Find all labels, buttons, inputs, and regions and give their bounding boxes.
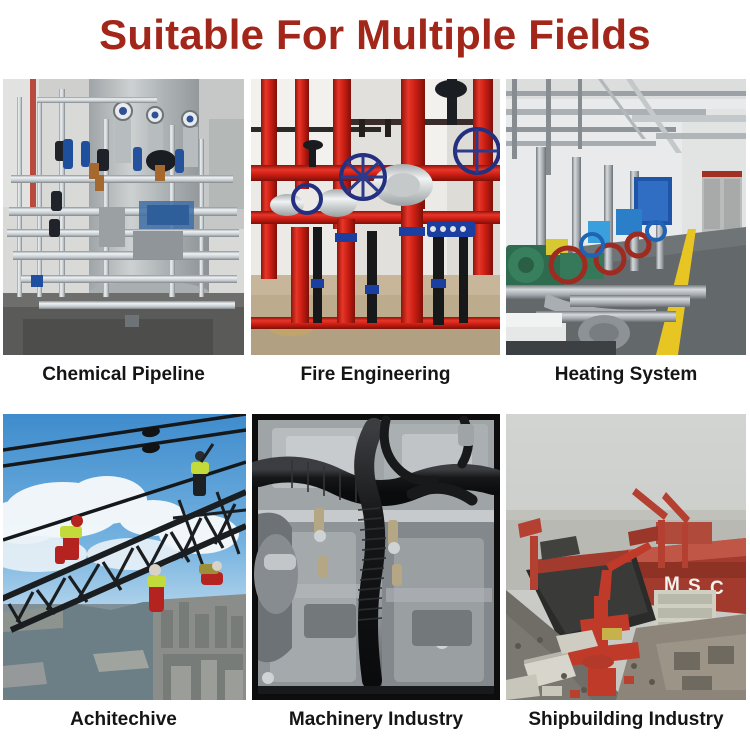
gallery-image-chemical-pipeline[interactable] (3, 79, 244, 355)
fire-engineering-illustration (251, 79, 500, 355)
chemical-pipeline-illustration (3, 79, 244, 355)
applications-gallery-grid: Chemical Pipeline (0, 0, 750, 750)
gallery-caption-machinery-industry: Machinery Industry (252, 710, 500, 729)
gallery-caption-shipbuilding-industry: Shipbuilding Industry (506, 710, 746, 729)
gallery-image-achitechive[interactable] (3, 414, 246, 700)
promo-banner: Suitable For Multiple Fields (0, 0, 750, 750)
gallery-caption-chemical-pipeline: Chemical Pipeline (3, 365, 244, 384)
achitechive-illustration (3, 414, 246, 700)
gallery-image-machinery-industry[interactable] (252, 414, 500, 700)
heating-system-illustration (506, 79, 746, 355)
gallery-image-heating-system[interactable] (506, 79, 746, 355)
gallery-image-fire-engineering[interactable] (251, 79, 500, 355)
machinery-industry-illustration (252, 414, 500, 700)
gallery-caption-heating-system: Heating System (506, 365, 746, 384)
gallery-caption-fire-engineering: Fire Engineering (251, 365, 500, 384)
gallery-caption-achitechive: Achitechive (3, 710, 244, 729)
shipbuilding-industry-illustration: M S C (506, 414, 746, 700)
gallery-image-shipbuilding-industry[interactable]: M S C (506, 414, 746, 700)
